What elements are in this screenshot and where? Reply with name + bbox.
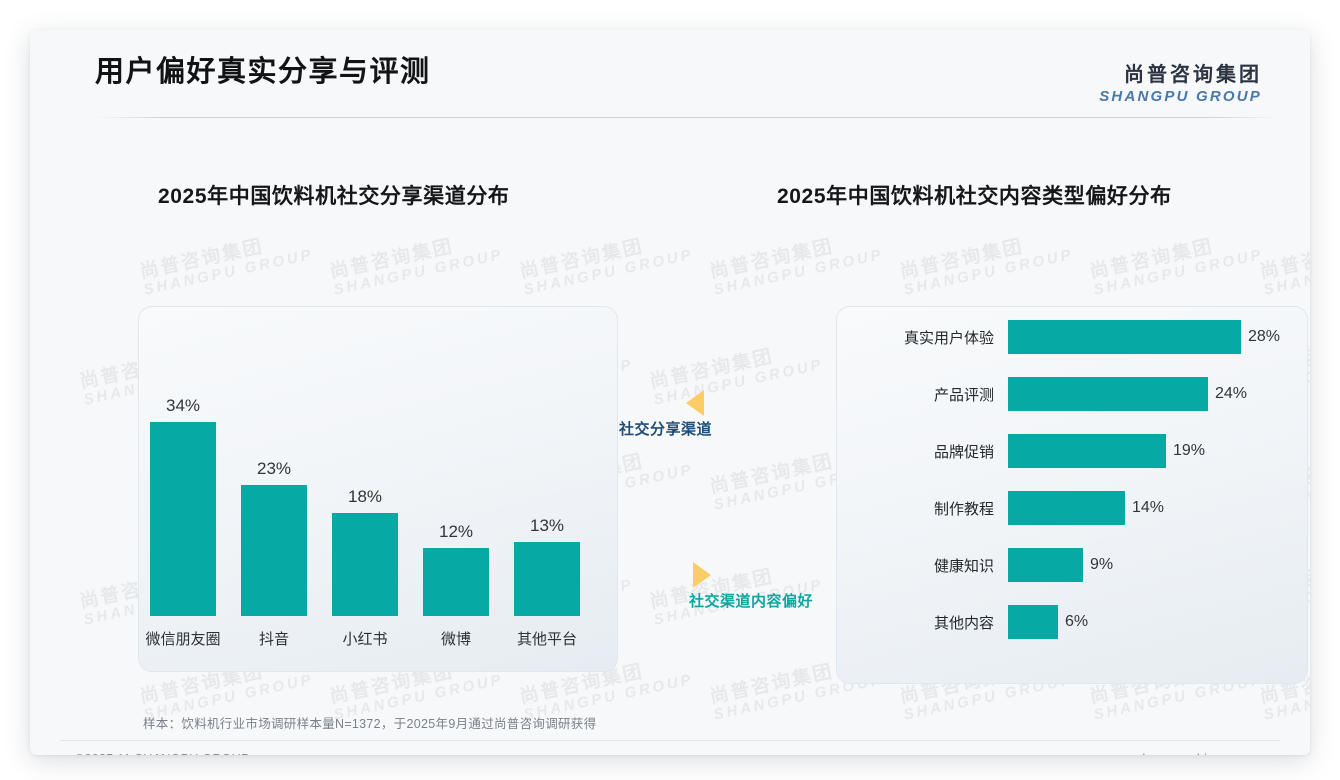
horizontal-bar-chart: 真实用户体验28%产品评测24%品牌促销19%制作教程14%健康知识9%其他内容… bbox=[836, 306, 1306, 682]
bar-row-label: 制作教程 bbox=[836, 498, 1008, 519]
bar-row-value: 14% bbox=[1125, 499, 1164, 517]
connector-label-1: 社交分享渠道 bbox=[619, 418, 712, 439]
column-bar[interactable] bbox=[241, 485, 307, 616]
bar-row-bar[interactable] bbox=[1008, 548, 1083, 582]
bar-row-value: 19% bbox=[1166, 442, 1205, 460]
bar-row: 产品评测24% bbox=[836, 377, 1306, 411]
column-bar[interactable] bbox=[514, 542, 580, 616]
bar-row-value: 28% bbox=[1241, 328, 1280, 346]
bar-row-value: 24% bbox=[1208, 385, 1247, 403]
panel-right: 2025年中国饮料机社交内容类型偏好分布 bbox=[745, 180, 1290, 210]
column-chart: 34%微信朋友圈23%抖音18%小红书12%微博13%其他平台 bbox=[138, 306, 616, 670]
bar-row-label: 健康知识 bbox=[836, 555, 1008, 576]
slide-canvas: 尚普咨询集团SHANGPU GROUP尚普咨询集团SHANGPU GROUP尚普… bbox=[30, 30, 1310, 755]
footer-copyright: ©2025.11 SHANGPU GROUP bbox=[75, 752, 250, 755]
column-bar-group: 23%抖音 bbox=[241, 485, 307, 616]
brand-logo-cn: 尚普咨询集团 bbox=[1099, 58, 1262, 87]
watermark-text: 尚普咨询集团SHANGPU GROUP bbox=[708, 227, 885, 298]
connector-content-preference: 社交渠道内容偏好 bbox=[689, 562, 813, 611]
bar-row-value: 6% bbox=[1058, 613, 1088, 631]
column-bar-label: 其他平台 bbox=[494, 616, 600, 649]
bar-row: 真实用户体验28% bbox=[836, 320, 1306, 354]
brand-logo: 尚普咨询集团 SHANGPU GROUP bbox=[1099, 58, 1262, 105]
footer-divider bbox=[60, 740, 1280, 741]
watermark-text: 尚普咨询集团SHANGPU GROUP bbox=[648, 337, 825, 408]
brand-logo-en: SHANGPU GROUP bbox=[1099, 88, 1262, 105]
column-bar[interactable] bbox=[150, 422, 216, 616]
triangle-left-icon bbox=[686, 390, 704, 416]
bar-row: 制作教程14% bbox=[836, 491, 1306, 525]
bar-row-bar[interactable] bbox=[1008, 434, 1166, 468]
connector-label-2: 社交渠道内容偏好 bbox=[689, 590, 813, 611]
watermark-text: 尚普咨询集团SHANGPU GROUP bbox=[138, 227, 315, 298]
column-bar[interactable] bbox=[332, 513, 398, 616]
page-title: 用户偏好真实分享与评测 bbox=[95, 48, 431, 90]
slide-header: 用户偏好真实分享与评测 尚普咨询集团 SHANGPU GROUP bbox=[30, 30, 1310, 118]
header-divider bbox=[95, 117, 1280, 118]
chart-title-left: 2025年中国饮料机社交分享渠道分布 bbox=[158, 180, 625, 210]
bar-row-label: 其他内容 bbox=[836, 612, 1008, 633]
column-bar-group: 12%微博 bbox=[423, 548, 489, 616]
column-bar-group: 34%微信朋友圈 bbox=[150, 422, 216, 616]
column-bar-value: 18% bbox=[332, 487, 398, 507]
bar-row-bar[interactable] bbox=[1008, 377, 1208, 411]
slide-footer: ©2025.11 SHANGPU GROUP www.shangpu-china… bbox=[30, 746, 1310, 755]
bar-row-bar[interactable] bbox=[1008, 491, 1125, 525]
bar-row-label: 真实用户体验 bbox=[836, 327, 1008, 348]
bar-row-bar[interactable] bbox=[1008, 320, 1241, 354]
column-bar-value: 23% bbox=[241, 459, 307, 479]
bar-row: 品牌促销19% bbox=[836, 434, 1306, 468]
column-bar-value: 13% bbox=[514, 516, 580, 536]
watermark-text: 尚普咨询集团SHANGPU GROUP bbox=[1258, 227, 1310, 298]
watermark-text: 尚普咨询集团SHANGPU GROUP bbox=[1088, 227, 1265, 298]
bar-row: 健康知识9% bbox=[836, 548, 1306, 582]
watermark-text: 尚普咨询集团SHANGPU GROUP bbox=[898, 227, 1075, 298]
sample-footnote: 样本：饮料机行业市场调研样本量N=1372，于2025年9月通过尚普咨询调研获得 bbox=[143, 713, 596, 732]
bar-row-value: 9% bbox=[1083, 556, 1113, 574]
connector-social-share-channel: 社交分享渠道 bbox=[619, 390, 712, 439]
column-bar-value: 12% bbox=[423, 522, 489, 542]
column-bar-value: 34% bbox=[150, 396, 216, 416]
watermark-text: 尚普咨询集团SHANGPU GROUP bbox=[648, 557, 825, 628]
bar-row-label: 产品评测 bbox=[836, 384, 1008, 405]
column-bar[interactable] bbox=[423, 548, 489, 616]
watermark-text: 尚普咨询集团SHANGPU GROUP bbox=[518, 227, 695, 298]
bar-row: 其他内容6% bbox=[836, 605, 1306, 639]
bar-row-bar[interactable] bbox=[1008, 605, 1058, 639]
column-bar-group: 13%其他平台 bbox=[514, 542, 580, 616]
chart-title-right: 2025年中国饮料机社交内容类型偏好分布 bbox=[777, 180, 1290, 210]
triangle-right-icon bbox=[693, 562, 711, 588]
watermark-text: 尚普咨询集团SHANGPU GROUP bbox=[328, 227, 505, 298]
footer-website[interactable]: www.shangpu-china.com bbox=[1105, 752, 1250, 755]
column-bar-group: 18%小红书 bbox=[332, 513, 398, 616]
bar-row-label: 品牌促销 bbox=[836, 441, 1008, 462]
panel-left: 2025年中国饮料机社交分享渠道分布 bbox=[125, 180, 625, 210]
